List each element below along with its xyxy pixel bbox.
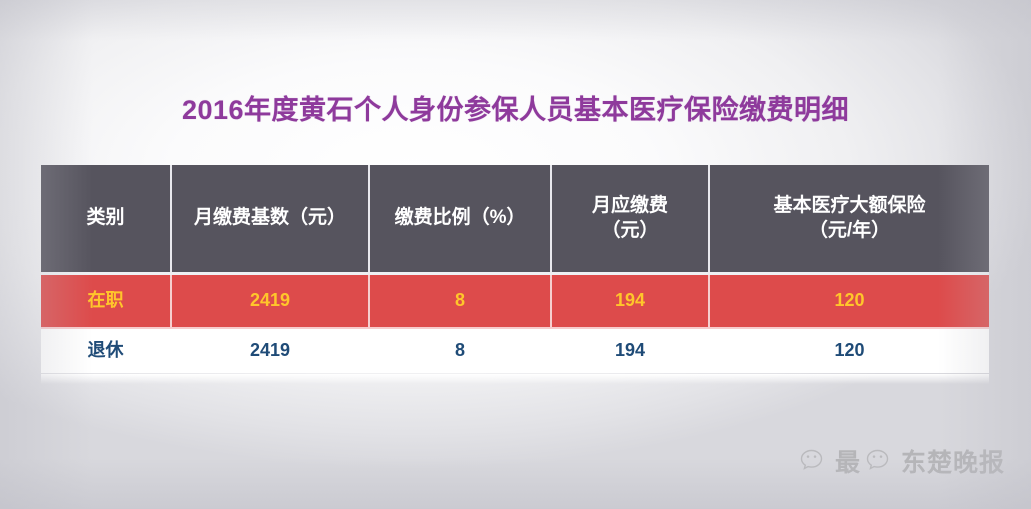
cell-monthly-base: 2419 [172,275,370,327]
column-header-monthly-payable: 月应缴费 （元） [552,165,710,272]
column-header-rate: 缴费比例（%） [370,165,552,272]
cell-category: 退休 [41,329,172,373]
page-title: 2016年度黄石个人身份参保人员基本医疗保险缴费明细 [0,88,1031,127]
table-bottom-fade [41,374,989,384]
cell-major-insurance: 120 [710,275,989,327]
watermark-left-label: 最 [835,443,861,479]
cell-monthly-payable: 194 [552,275,710,327]
slide-canvas: 2016年度黄石个人身份参保人员基本医疗保险缴费明细 类别 月缴费基数（元） 缴… [0,0,1031,509]
column-header-monthly-base: 月缴费基数（元） [172,165,370,272]
watermark-right-label: 东楚晚报 [901,443,1005,479]
cell-category: 在职 [41,275,172,327]
table-row: 退休 2419 8 194 120 [41,329,989,373]
table-row: 在职 2419 8 194 120 [41,275,989,327]
table-header-row: 类别 月缴费基数（元） 缴费比例（%） 月应缴费 （元） 基本医疗大额保险 （元… [41,165,989,272]
cell-rate: 8 [370,329,552,373]
cell-monthly-base: 2419 [172,329,370,373]
watermark: 最 东楚晚报 [800,443,1005,479]
wechat-icon [866,449,896,473]
cell-monthly-payable: 194 [552,329,710,373]
column-header-major-insurance: 基本医疗大额保险 （元/年） [710,165,989,272]
premium-table: 类别 月缴费基数（元） 缴费比例（%） 月应缴费 （元） 基本医疗大额保险 （元… [41,165,989,373]
cell-rate: 8 [370,275,552,327]
column-header-category: 类别 [41,165,172,272]
cell-major-insurance: 120 [710,329,989,373]
wechat-icon [800,449,830,473]
